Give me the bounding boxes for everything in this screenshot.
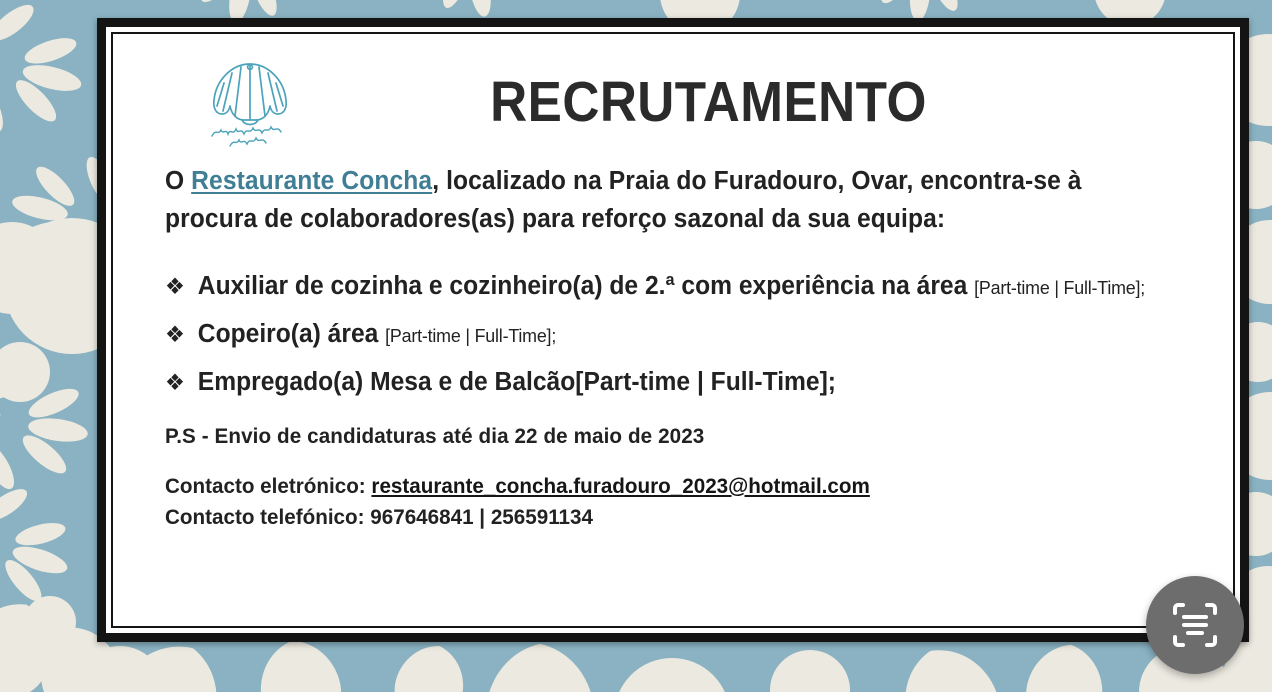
shell-logo-icon [202, 56, 298, 148]
floret-bullet-icon: ❖ [165, 314, 198, 354]
list-item-title: Copeiro(a) área [198, 320, 385, 348]
list-item-body: Copeiro(a) área [Part-time | Full-Time]; [198, 314, 1146, 356]
contact-block: Contacto eletrónico: restaurante_concha.… [165, 471, 1140, 533]
list-item: ❖ Auxiliar de cozinha e cozinheiro(a) de… [165, 266, 1145, 308]
poster-header: RECRUTAMENTO [165, 48, 1181, 156]
list-item-schedule-tag: [Part-time | Full-Time]; [575, 368, 836, 396]
list-item: ❖ Copeiro(a) área [Part-time | Full-Time… [165, 314, 1145, 356]
contact-email-label: Contacto eletrónico: [165, 474, 371, 498]
list-item-body: Auxiliar de cozinha e cozinheiro(a) de 2… [198, 266, 1146, 308]
floret-bullet-icon: ❖ [165, 266, 198, 306]
page-title: RECRUTAMENTO [377, 69, 1138, 135]
restaurante-concha-link[interactable]: Restaurante Concha [191, 167, 432, 195]
contact-phone-value: 967646841 | 256591134 [370, 505, 593, 529]
brand-logo [165, 56, 335, 148]
job-positions-list: ❖ Auxiliar de cozinha e cozinheiro(a) de… [165, 266, 1181, 402]
list-item-schedule-tag: [Part-time | Full-Time]; [385, 325, 556, 346]
list-item-title: Auxiliar de cozinha e cozinheiro(a) de 2… [198, 272, 974, 300]
list-item-schedule-tag: [Part-time | Full-Time]; [974, 277, 1145, 298]
contact-email-link[interactable]: restaurante_concha.furadouro_2023@hotmai… [371, 474, 869, 498]
contact-phone-label: Contacto telefónico: [165, 505, 370, 529]
list-item: ❖ Empregado(a) Mesa e de Balcão[Part-tim… [165, 362, 1145, 402]
list-item-title: Empregado(a) Mesa e de Balcão [198, 368, 575, 396]
intro-before-link: O [165, 167, 191, 195]
floret-bullet-icon: ❖ [165, 362, 198, 402]
poster-card: RECRUTAMENTO O Restaurante Concha, local… [97, 18, 1249, 642]
deadline-note: P.S - Envio de candidaturas até dia 22 d… [165, 424, 1140, 449]
contact-email-row: Contacto eletrónico: restaurante_concha.… [165, 471, 1140, 502]
list-item-body: Empregado(a) Mesa e de Balcão[Part-time … [198, 362, 1146, 402]
text-scan-button[interactable] [1146, 576, 1244, 674]
poster-inner-frame: RECRUTAMENTO O Restaurante Concha, local… [111, 32, 1235, 628]
text-scan-icon [1169, 599, 1221, 651]
contact-phone-row: Contacto telefónico: 967646841 | 2565911… [165, 502, 1140, 533]
intro-paragraph: O Restaurante Concha, localizado na Prai… [165, 162, 1145, 238]
